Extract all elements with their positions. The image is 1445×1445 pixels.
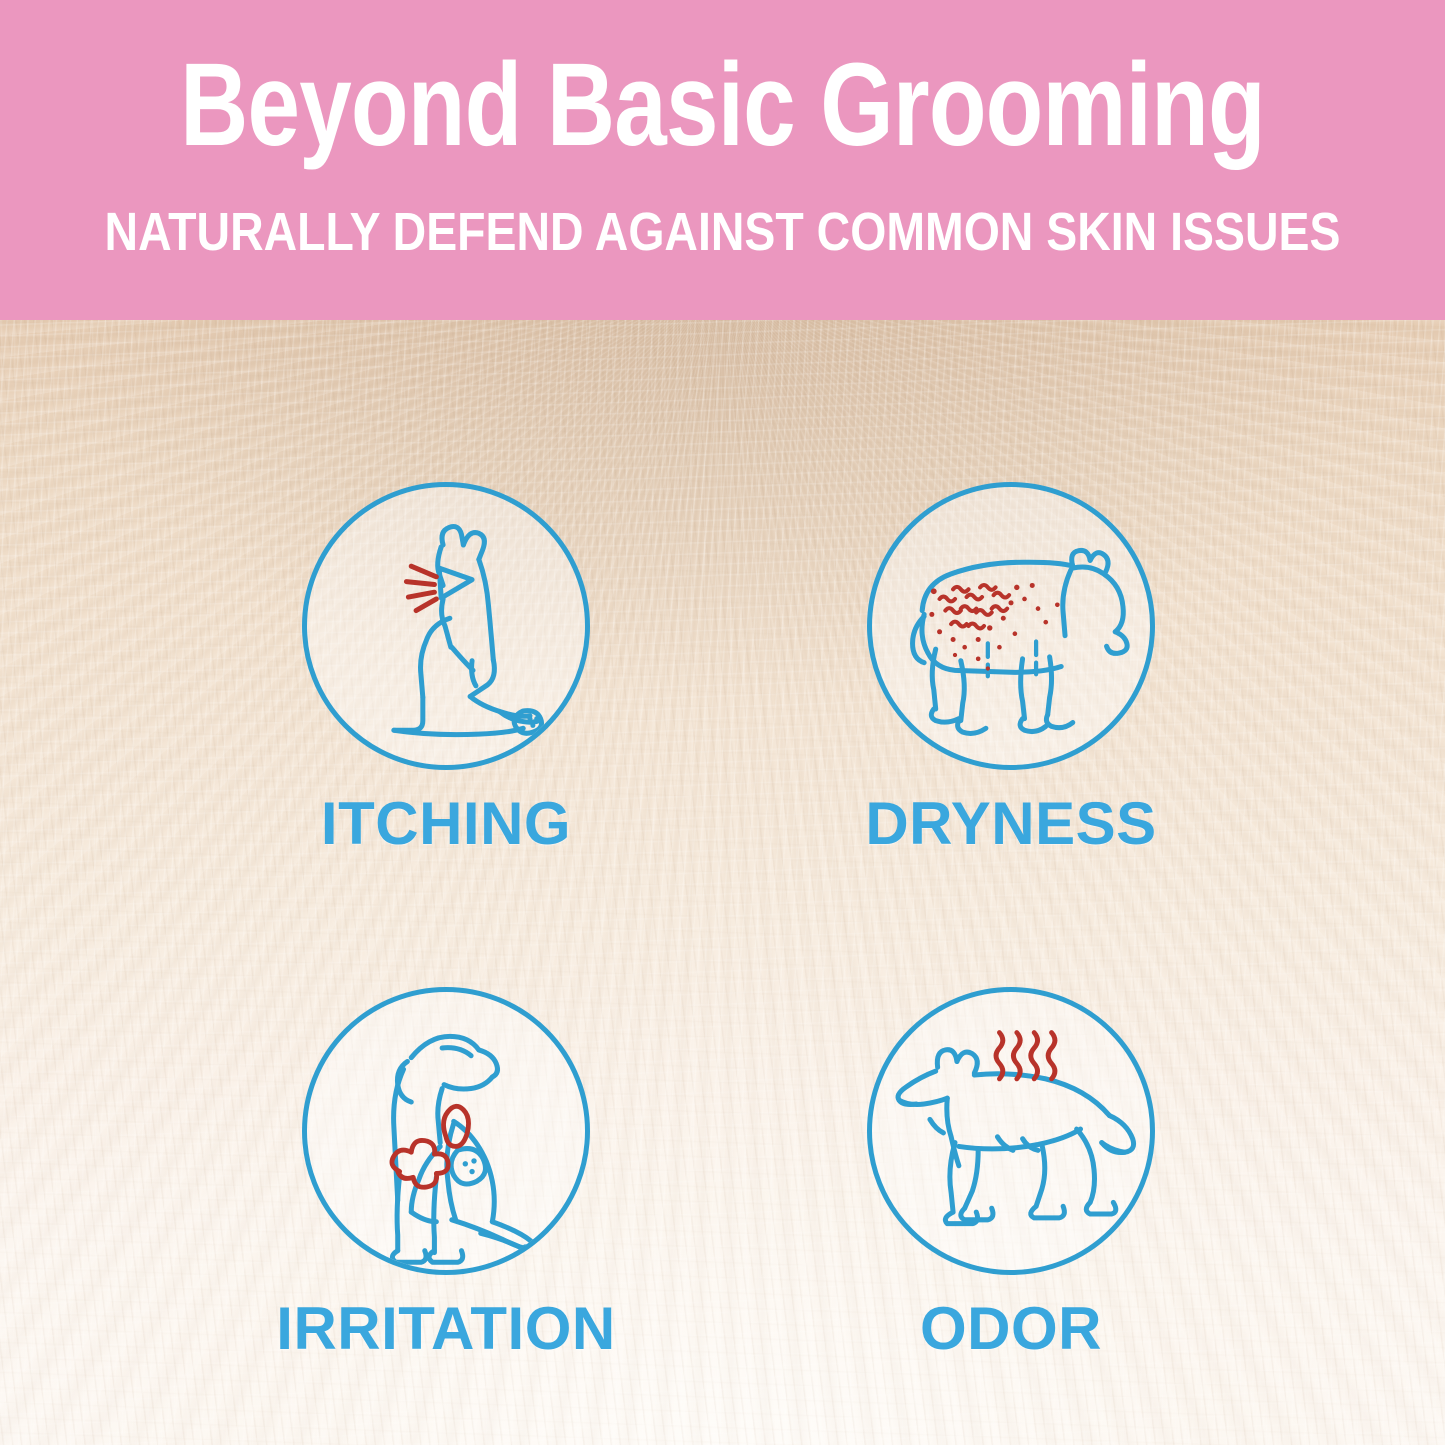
red-itch-burst-lines bbox=[406, 566, 436, 610]
benefit-label-dryness: DRYNESS bbox=[831, 794, 1191, 854]
benefit-label-itching: ITCHING bbox=[266, 794, 626, 854]
odor-icon-circle bbox=[867, 987, 1155, 1275]
benefit-item-odor: ODOR bbox=[831, 987, 1191, 1359]
promo-infographic: Beyond Basic Grooming NATURALLY DEFEND A… bbox=[0, 0, 1445, 1445]
header-banner: Beyond Basic Grooming NATURALLY DEFEND A… bbox=[0, 0, 1445, 320]
dryness-icon-circle bbox=[867, 482, 1155, 770]
benefit-item-itching: ITCHING bbox=[266, 482, 626, 854]
dog-dandruff-flakes-icon bbox=[872, 487, 1150, 765]
dog-sitting-irritated-patch-icon bbox=[307, 992, 585, 1270]
fur-background-photo bbox=[0, 320, 1445, 1445]
dog-scratching-icon bbox=[307, 487, 585, 765]
irritation-icon-circle bbox=[302, 987, 590, 1275]
benefit-label-odor: ODOR bbox=[831, 1299, 1191, 1359]
red-flake-specks bbox=[940, 585, 1010, 628]
dog-odor-waves-icon bbox=[872, 992, 1150, 1270]
benefit-item-irritation: IRRITATION bbox=[266, 987, 626, 1359]
benefit-label-irritation: IRRITATION bbox=[266, 1299, 626, 1359]
page-title: Beyond Basic Grooming bbox=[145, 46, 1301, 164]
benefit-item-dryness: DRYNESS bbox=[831, 482, 1191, 854]
red-irritation-patches bbox=[392, 1106, 469, 1187]
red-stink-wavy-lines bbox=[996, 1033, 1055, 1079]
page-subtitle: NATURALLY DEFEND AGAINST COMMON SKIN ISS… bbox=[101, 205, 1344, 259]
itching-icon-circle bbox=[302, 482, 590, 770]
